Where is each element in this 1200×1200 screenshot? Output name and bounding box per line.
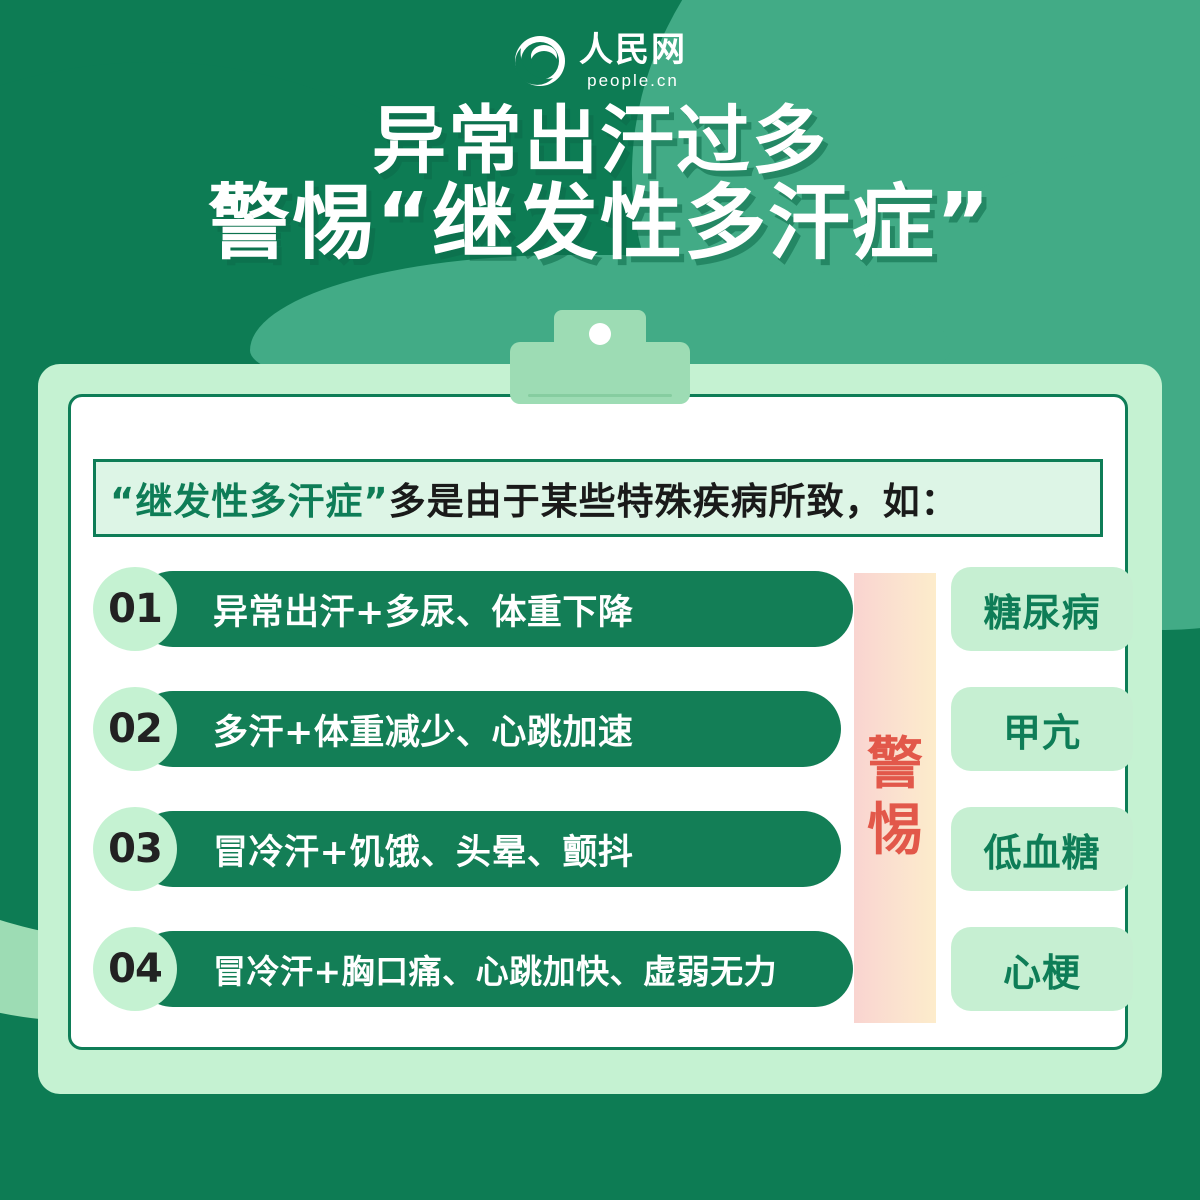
disease-tag[interactable]: 甲亢 [951, 687, 1133, 771]
disease-tag-label: 低血糖 [983, 822, 1100, 877]
people-cn-globe-logo-icon [513, 34, 567, 88]
background-bottom-band [0, 1110, 1200, 1200]
infographic-poster: 人民网 people.cn 异常出汗过多 警惕“继发性多汗症” “继发性多汗症”… [0, 0, 1200, 1200]
disease-tag[interactable]: 糖尿病 [951, 567, 1133, 651]
brand-logo: 人民网 people.cn [0, 26, 1200, 96]
symptom-number: 03 [108, 826, 162, 872]
content-card-frame: “继发性多汗症”多是由于某些特殊疾病所致，如： 异常出汗+多尿、体重下降 01 … [38, 364, 1162, 1094]
warning-char-1: 警 [867, 732, 923, 798]
symptom-number-badge: 04 [93, 927, 177, 1011]
subtitle-text: “继发性多汗症”多是由于某些特殊疾病所致，如： [110, 471, 959, 525]
warning-column: 警 惕 [854, 573, 936, 1023]
symptom-pill[interactable]: 冒冷汗+胸口痛、心跳加快、虚弱无力 [135, 931, 853, 1007]
list-item[interactable]: 冒冷汗+胸口痛、心跳加快、虚弱无力 04 [93, 927, 853, 1011]
disease-tag[interactable]: 心梗 [951, 927, 1133, 1011]
clipboard-tab-line [528, 394, 672, 397]
brand-name-en: people.cn [587, 72, 679, 89]
clipboard-tab-decoration-icon [510, 310, 690, 410]
subtitle-highlight: “继发性多汗症” [110, 480, 389, 523]
clipboard-tab-dot [589, 323, 611, 345]
subtitle-banner: “继发性多汗症”多是由于某些特殊疾病所致，如： [93, 459, 1103, 537]
symptom-number: 02 [108, 706, 162, 752]
list-item[interactable]: 异常出汗+多尿、体重下降 01 [93, 567, 853, 651]
symptom-number: 01 [108, 586, 162, 632]
disease-tag-label: 心梗 [1003, 942, 1081, 997]
symptom-pill[interactable]: 冒冷汗+饥饿、头晕、颤抖 [135, 811, 841, 887]
list-item[interactable]: 冒冷汗+饥饿、头晕、颤抖 03 [93, 807, 853, 891]
disease-tag-list: 糖尿病 甲亢 低血糖 心梗 [951, 567, 1133, 1011]
symptom-number-badge: 03 [93, 807, 177, 891]
symptom-text: 冒冷汗+胸口痛、心跳加快、虚弱无力 [213, 945, 777, 993]
symptom-list: 异常出汗+多尿、体重下降 01 多汗+体重减少、心跳加速 02 [93, 567, 853, 1011]
symptom-text: 冒冷汗+饥饿、头晕、颤抖 [213, 824, 633, 875]
disease-tag-label: 糖尿病 [983, 582, 1100, 637]
list-item[interactable]: 多汗+体重减少、心跳加速 02 [93, 687, 853, 771]
subtitle-rest: 多是由于某些特殊疾病所致，如： [389, 480, 959, 523]
symptom-number: 04 [108, 946, 162, 992]
symptom-text: 异常出汗+多尿、体重下降 [213, 584, 633, 635]
warning-char-2: 惕 [867, 798, 923, 864]
disease-tag-label: 甲亢 [1003, 702, 1081, 757]
symptom-text: 多汗+体重减少、心跳加速 [213, 704, 633, 755]
brand-name-cn: 人民网 [579, 33, 687, 67]
page-title-line-1: 异常出汗过多 [0, 104, 1200, 179]
disease-tag[interactable]: 低血糖 [951, 807, 1133, 891]
brand-logo-text: 人民网 people.cn [579, 33, 687, 89]
symptom-number-badge: 02 [93, 687, 177, 771]
symptom-number-badge: 01 [93, 567, 177, 651]
symptom-pill[interactable]: 异常出汗+多尿、体重下降 [135, 571, 853, 647]
content-card: “继发性多汗症”多是由于某些特殊疾病所致，如： 异常出汗+多尿、体重下降 01 … [68, 394, 1128, 1050]
page-title: 异常出汗过多 警惕“继发性多汗症” [0, 104, 1200, 268]
symptom-pill[interactable]: 多汗+体重减少、心跳加速 [135, 691, 841, 767]
page-title-line-2: 警惕“继发性多汗症” [0, 181, 1200, 267]
